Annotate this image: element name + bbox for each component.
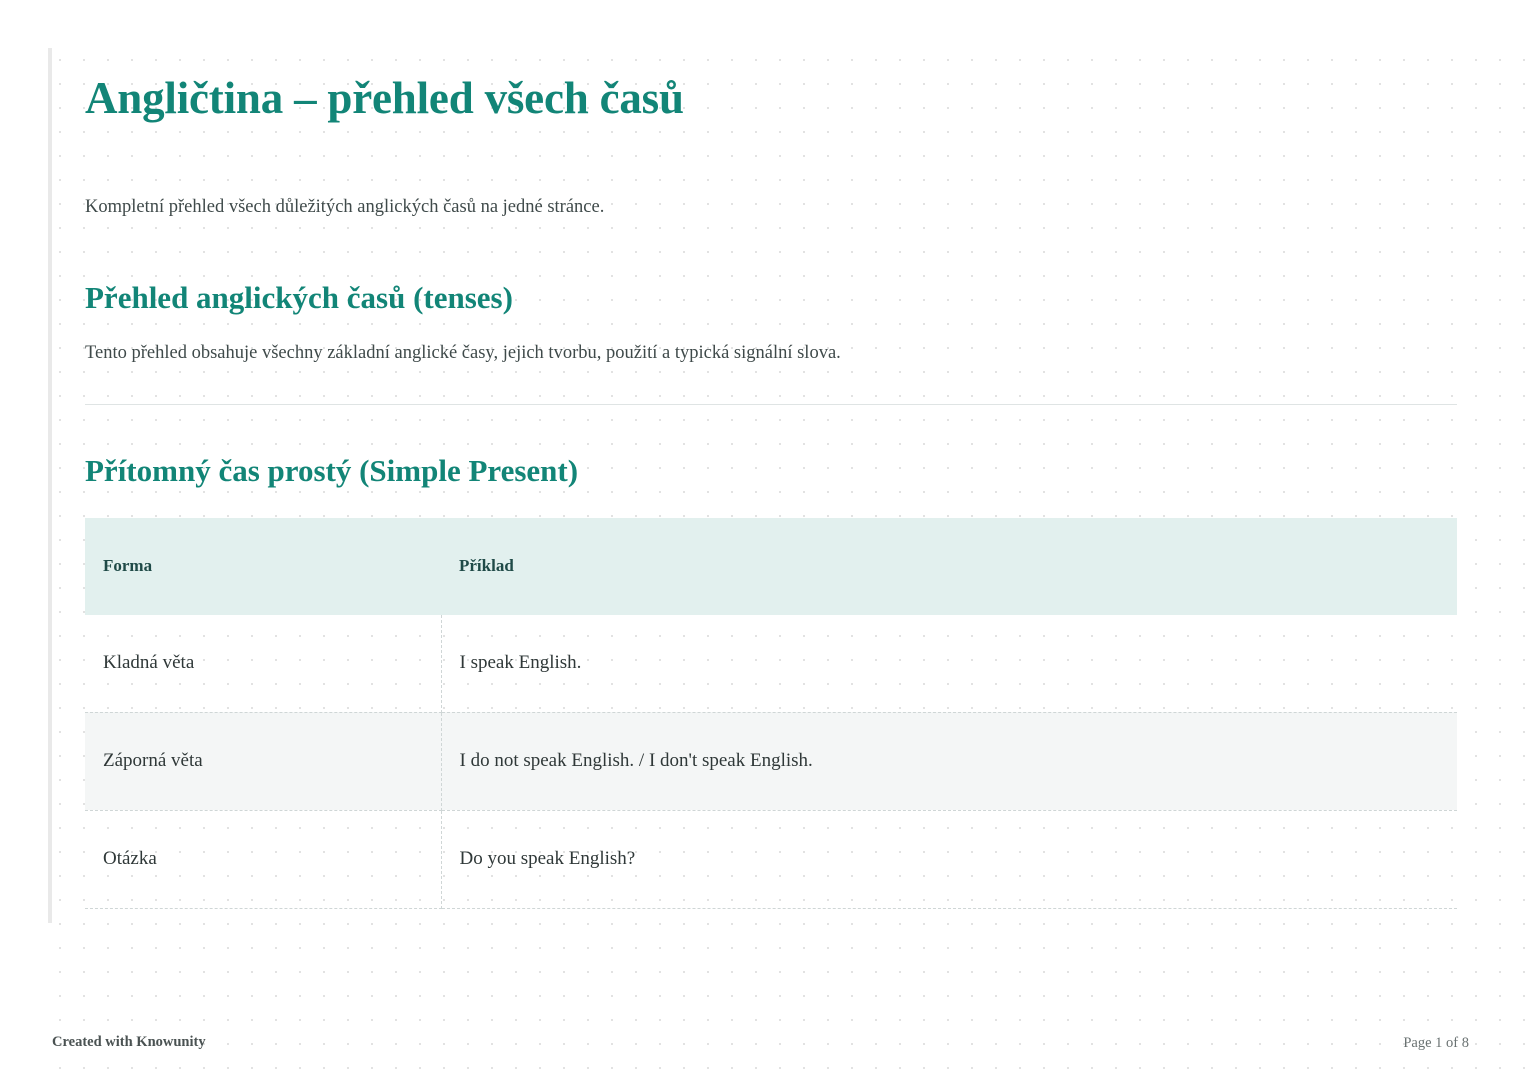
section-description: Tento přehled obsahuje všechny základní …: [85, 343, 1467, 364]
table-row: Otázka Do you speak English?: [85, 810, 1457, 908]
cell-forma: Otázka: [85, 810, 441, 908]
section-divider: [85, 404, 1457, 405]
column-header-priklad: Příklad: [441, 518, 1457, 615]
cell-priklad: I speak English.: [441, 615, 1457, 713]
tense-heading: Přítomný čas prostý (Simple Present): [85, 453, 1467, 489]
cell-priklad: I do not speak English. / I don't speak …: [441, 712, 1457, 810]
table-header: Forma Příklad: [85, 518, 1457, 615]
page-footer: Created with Knowunity Page 1 of 8: [48, 1034, 1479, 1058]
footer-attribution: Created with Knowunity: [52, 1034, 206, 1051]
tense-table: Forma Příklad Kladná věta I speak Englis…: [85, 518, 1457, 909]
section-heading: Přehled anglických časů (tenses): [85, 280, 1467, 316]
left-margin-rule: [48, 48, 52, 923]
table-header-row: Forma Příklad: [85, 518, 1457, 615]
page-content: Angličtina – přehled všech časů Kompletn…: [85, 60, 1467, 909]
table-row: Záporná věta I do not speak English. / I…: [85, 712, 1457, 810]
page-subtitle: Kompletní přehled všech důležitých angli…: [85, 197, 1467, 218]
column-header-forma: Forma: [85, 518, 441, 615]
footer-page-number: Page 1 of 8: [1403, 1035, 1469, 1052]
table-row: Kladná věta I speak English.: [85, 615, 1457, 713]
page-title: Angličtina – přehled všech časů: [85, 74, 1467, 124]
document-page: Angličtina – přehled všech časů Kompletn…: [0, 0, 1527, 1080]
cell-priklad: Do you speak English?: [441, 810, 1457, 908]
cell-forma: Kladná věta: [85, 615, 441, 713]
table-body: Kladná věta I speak English. Záporná vět…: [85, 615, 1457, 909]
cell-forma: Záporná věta: [85, 712, 441, 810]
